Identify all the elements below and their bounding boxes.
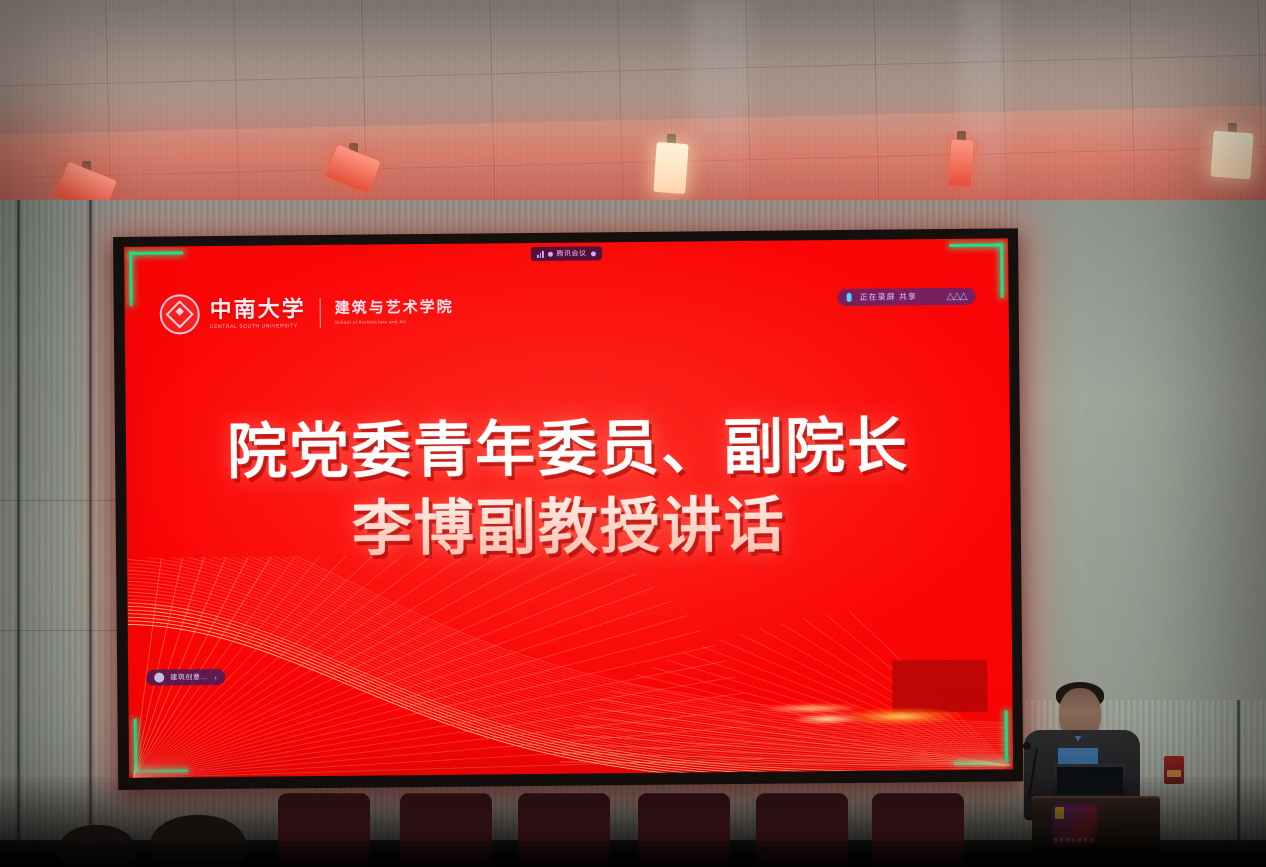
corner-bracket-bottom-right [954, 710, 1009, 765]
recording-badge[interactable]: 正在录屏 共享 △△△ [838, 288, 976, 306]
slide-title-line2: 李博副教授讲话 [126, 484, 1011, 570]
dark-red-patch [892, 660, 987, 713]
wave-line-art [127, 549, 1013, 777]
slide-title-line1: 院党委青年委员、副院长 [227, 411, 910, 488]
record-dot-icon [547, 251, 552, 256]
tencent-meeting-top-bar[interactable]: 腾讯会议 [531, 246, 602, 261]
logo-divider [320, 298, 321, 328]
ceiling-light [948, 139, 973, 186]
signal-icon [537, 250, 544, 257]
corner-bracket-bottom-left [134, 718, 189, 773]
university-name-cn: 中南大学 [210, 298, 306, 321]
presentation-slide: 中南大学 CENTRAL SOUTH UNIVERSITY 建筑与艺术学院 Sc… [124, 238, 1013, 777]
school-name-cn: 建筑与艺术学院 [335, 300, 454, 316]
wall-right-of-screen [1018, 200, 1266, 700]
participant-badge[interactable]: 建筑创意… ‹ [146, 669, 225, 686]
tencent-meeting-label: 腾讯会议 [556, 248, 586, 258]
status-dot-icon [590, 251, 595, 256]
wall-seam [16, 200, 21, 840]
participant-name: 建筑创意… [170, 672, 208, 682]
light-shaft [690, 0, 750, 215]
audio-wave-icon: △△△ [946, 291, 966, 302]
university-logo: 中南大学 CENTRAL SOUTH UNIVERSITY 建筑与艺术学院 Sc… [160, 292, 454, 335]
wall-seam [88, 200, 93, 840]
led-screen: 中南大学 CENTRAL SOUTH UNIVERSITY 建筑与艺术学院 Sc… [113, 228, 1023, 790]
university-name-en: CENTRAL SOUTH UNIVERSITY [210, 323, 306, 330]
ceiling-light [653, 142, 688, 194]
ceiling-light [1210, 131, 1253, 180]
avatar [154, 673, 164, 683]
audience-seating [0, 777, 1266, 867]
slide-title: 院党委青年委员、副院长 李博副教授讲话 [126, 406, 1011, 570]
slide-decoration [127, 549, 1013, 777]
ceiling [0, 0, 1266, 215]
microphone-head-icon [1023, 742, 1031, 750]
csu-emblem-icon [160, 294, 200, 334]
ember-glow-secondary [732, 697, 892, 721]
microphone-icon [847, 293, 852, 302]
chevron-left-icon[interactable]: ‹ [214, 673, 217, 682]
screenshot-root: 中南大学 CENTRAL SOUTH UNIVERSITY 建筑与艺术学院 Sc… [0, 0, 1266, 867]
school-name-en: School of Architecture and Art [335, 318, 454, 324]
recording-badge-label: 正在录屏 共享 [860, 291, 917, 303]
foreground-shadow [0, 841, 1266, 867]
